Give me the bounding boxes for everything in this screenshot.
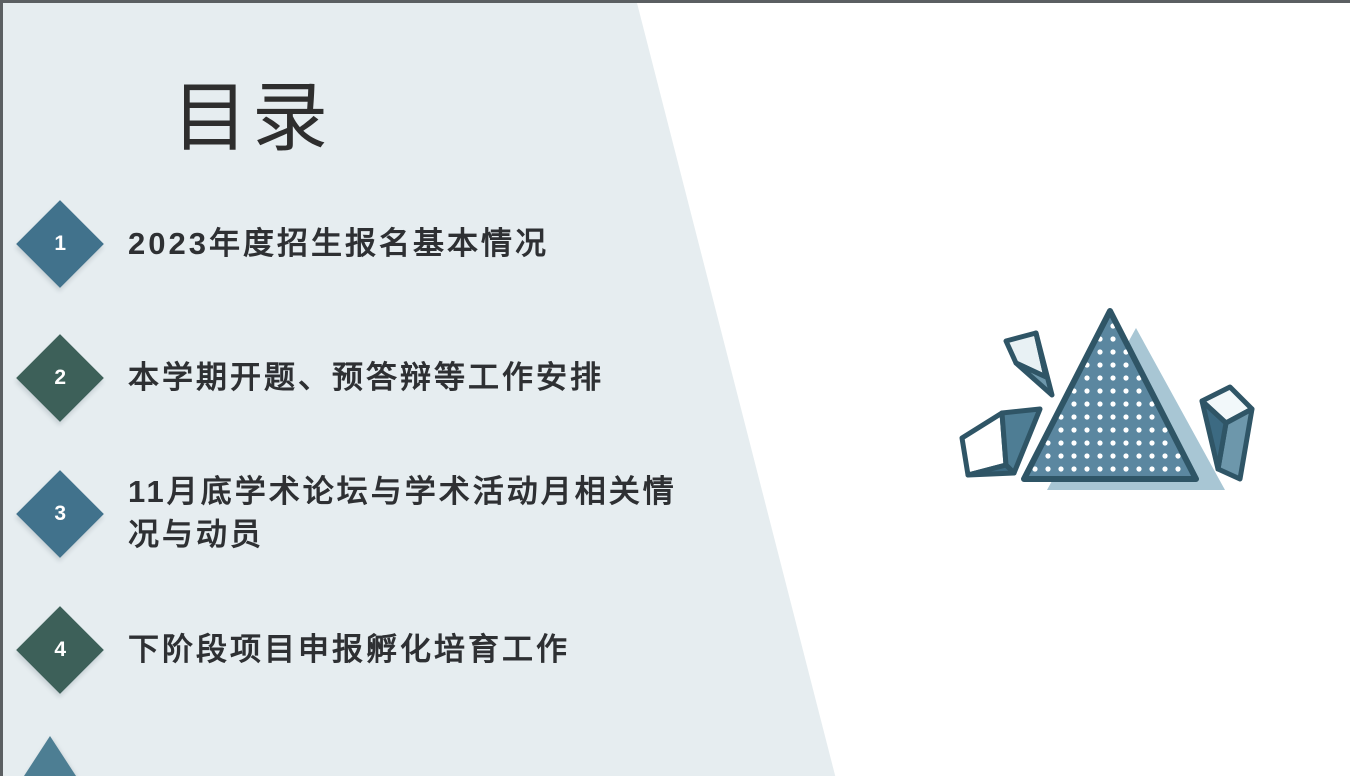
slide-canvas: 目录 1 2023年度招生报名基本情况 2 本学期开题、预答辩等工作安排 3 <box>0 0 1350 776</box>
page-title: 目录 <box>172 81 332 157</box>
diamond-badge-4: 4 <box>0 605 120 695</box>
toc-number: 4 <box>55 639 67 660</box>
toc-label: 下阶段项目申报孵化培育工作 <box>128 629 570 672</box>
diamond-badge-1: 1 <box>0 199 120 289</box>
diamond-badge-2: 2 <box>0 333 120 423</box>
toc-item-4[interactable]: 4 下阶段项目申报孵化培育工作 <box>0 605 720 695</box>
toc-item-1[interactable]: 1 2023年度招生报名基本情况 <box>0 199 720 289</box>
triangle-logo-icon <box>24 736 76 776</box>
toc-label: 本学期开题、预答辩等工作安排 <box>128 357 604 400</box>
diamond-shape: 3 <box>16 470 104 558</box>
toc-item-3[interactable]: 3 11月底学术论坛与学术活动月相关情况与动员 <box>0 469 720 559</box>
diamond-shape: 4 <box>16 606 104 694</box>
left-edge-accent <box>0 3 3 776</box>
toc-number: 1 <box>55 233 67 254</box>
diamond-badge-3: 3 <box>0 469 120 559</box>
toc-number: 2 <box>55 367 67 388</box>
diamond-shape: 1 <box>16 200 104 288</box>
diamond-shape: 2 <box>16 334 104 422</box>
toc-item-2[interactable]: 2 本学期开题、预答辩等工作安排 <box>0 333 720 423</box>
pyramid-graphic-icon <box>940 283 1280 523</box>
toc-label: 11月底学术论坛与学术活动月相关情况与动员 <box>128 471 688 557</box>
toc-label: 2023年度招生报名基本情况 <box>128 223 549 266</box>
toc-number: 3 <box>55 503 67 524</box>
